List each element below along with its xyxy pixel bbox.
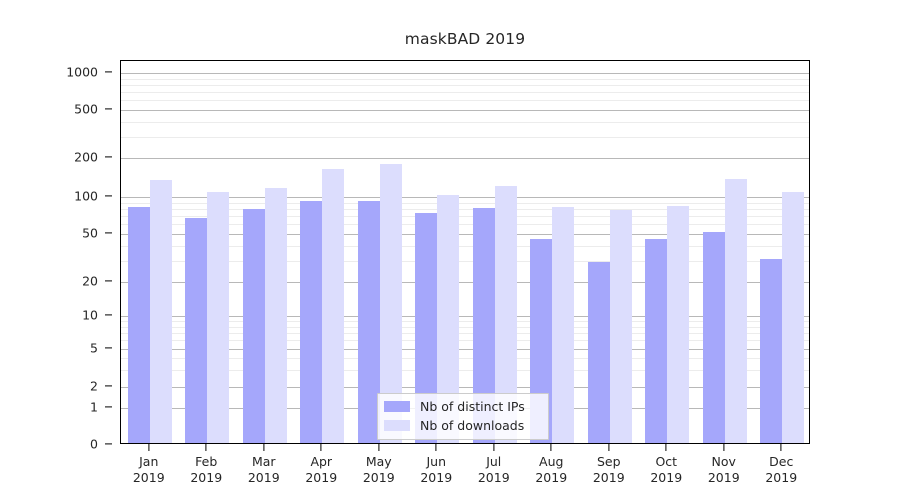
y-axis-tick-mark [105, 314, 112, 315]
bar-distinct-ips [760, 259, 782, 443]
x-axis-tick-year: 2019 [765, 470, 797, 486]
y-axis-tick-label: 2 [90, 379, 98, 394]
x-axis-tick-month: Jun [420, 454, 452, 470]
x-axis-tick-mark [608, 444, 609, 451]
x-axis-tick-label: Aug2019 [535, 454, 567, 485]
y-axis-tick-label: 100 [74, 189, 98, 204]
x-axis-tick-month: Nov [708, 454, 740, 470]
bar-distinct-ips [243, 209, 265, 443]
x-axis-tick-mark [378, 444, 379, 451]
x-axis-tick-month: Aug [535, 454, 567, 470]
y-axis-tick-label: 500 [74, 102, 98, 117]
x-axis-tick-mark [206, 444, 207, 451]
y-axis-tick-mark [105, 232, 112, 233]
x-axis-tick-year: 2019 [133, 470, 165, 486]
x-axis-tick-year: 2019 [248, 470, 280, 486]
y-axis-tick-label: 50 [82, 226, 98, 241]
y-axis-tick-label: 20 [82, 274, 98, 289]
bar-downloads [782, 192, 804, 443]
legend-item-downloads[interactable]: Nb of downloads [384, 416, 542, 435]
gridline-minor [121, 92, 809, 93]
x-axis-tick-month: Oct [650, 454, 682, 470]
x-axis-tick-month: Apr [305, 454, 337, 470]
bar-distinct-ips [645, 239, 667, 443]
gridline-minor [121, 122, 809, 123]
x-axis-tick-label: Feb2019 [190, 454, 222, 485]
x-axis-tick-label: Apr2019 [305, 454, 337, 485]
bar-downloads [667, 206, 689, 443]
x-axis-tick-year: 2019 [305, 470, 337, 486]
x-axis-tick-label: Jan2019 [133, 454, 165, 485]
y-axis-tick-mark [105, 385, 112, 386]
x-axis-tick-month: Sep [593, 454, 625, 470]
x-axis-tick-label: Oct2019 [650, 454, 682, 485]
x-axis-tick-label: Jul2019 [478, 454, 510, 485]
gridline-minor [121, 100, 809, 101]
x-axis-tick-year: 2019 [190, 470, 222, 486]
legend-label-downloads: Nb of downloads [420, 418, 524, 433]
x-axis-tick-mark [148, 444, 149, 451]
y-axis-tick-label: 0 [90, 437, 98, 452]
x-axis-tick-mark [723, 444, 724, 451]
x-axis-tick-month: Mar [248, 454, 280, 470]
y-axis: 01251020501002005001000 [0, 60, 112, 444]
x-axis-tick-mark [493, 444, 494, 451]
bar-downloads [552, 207, 574, 443]
x-axis-tick-month: May [363, 454, 395, 470]
y-axis-tick-label: 1 [90, 400, 98, 415]
legend-swatch-icon-downloads [384, 420, 410, 431]
x-axis-tick-year: 2019 [363, 470, 395, 486]
x-axis-tick-year: 2019 [420, 470, 452, 486]
gridline-major [121, 73, 809, 74]
y-axis-tick-label: 1000 [66, 65, 98, 80]
bar-distinct-ips [185, 218, 207, 443]
y-axis-tick-mark [105, 108, 112, 109]
x-axis-tick-month: Jan [133, 454, 165, 470]
x-axis-tick-mark [263, 444, 264, 451]
gridline-major [121, 110, 809, 111]
legend-label-ips: Nb of distinct IPs [420, 399, 525, 414]
x-axis-tick-mark [666, 444, 667, 451]
bar-downloads [610, 210, 632, 443]
x-axis-tick-label: Jun2019 [420, 454, 452, 485]
x-axis-tick-label: Mar2019 [248, 454, 280, 485]
bar-distinct-ips [300, 201, 322, 443]
gridline-minor [121, 85, 809, 86]
y-axis-tick-label: 200 [74, 150, 98, 165]
x-axis-tick-mark [321, 444, 322, 451]
y-axis-tick-label: 10 [82, 308, 98, 323]
y-axis-tick-label: 5 [90, 341, 98, 356]
chart-title: maskBAD 2019 [120, 30, 810, 48]
y-axis-tick-mark [105, 280, 112, 281]
x-axis: Jan2019Feb2019Mar2019Apr2019May2019Jun20… [120, 444, 810, 500]
x-axis-tick-month: Jul [478, 454, 510, 470]
x-axis-tick-mark [551, 444, 552, 451]
x-axis-tick-year: 2019 [708, 470, 740, 486]
y-axis-tick-mark [105, 347, 112, 348]
bar-downloads [322, 169, 344, 443]
gridline-minor [121, 79, 809, 80]
bar-distinct-ips [703, 232, 725, 443]
x-axis-tick-label: Nov2019 [708, 454, 740, 485]
legend-item-ips[interactable]: Nb of distinct IPs [384, 397, 542, 416]
x-axis-tick-label: Sep2019 [593, 454, 625, 485]
gridline-minor [121, 137, 809, 138]
chart-legend: Nb of distinct IPs Nb of downloads [377, 393, 549, 440]
y-axis-tick-mark [105, 195, 112, 196]
x-axis-tick-year: 2019 [478, 470, 510, 486]
y-axis-tick-mark [105, 71, 112, 72]
legend-swatch-icon-ips [384, 401, 410, 412]
gridline-major [121, 158, 809, 159]
chart-figure: maskBAD 2019 01251020501002005001000 Jan… [0, 0, 900, 500]
x-axis-tick-label: Dec2019 [765, 454, 797, 485]
y-axis-tick-mark [105, 156, 112, 157]
x-axis-tick-year: 2019 [593, 470, 625, 486]
bar-downloads [207, 192, 229, 443]
bar-downloads [265, 188, 287, 443]
x-axis-tick-month: Feb [190, 454, 222, 470]
y-axis-tick-mark [105, 406, 112, 407]
x-axis-tick-year: 2019 [535, 470, 567, 486]
x-axis-tick-mark [781, 444, 782, 451]
x-axis-tick-month: Dec [765, 454, 797, 470]
bar-distinct-ips [128, 207, 150, 443]
x-axis-tick-label: May2019 [363, 454, 395, 485]
y-axis-tick-mark [105, 443, 112, 444]
bar-downloads [725, 179, 747, 443]
bar-downloads [150, 180, 172, 443]
x-axis-tick-year: 2019 [650, 470, 682, 486]
plot-area [120, 60, 810, 444]
x-axis-tick-mark [436, 444, 437, 451]
bar-distinct-ips [588, 262, 610, 443]
